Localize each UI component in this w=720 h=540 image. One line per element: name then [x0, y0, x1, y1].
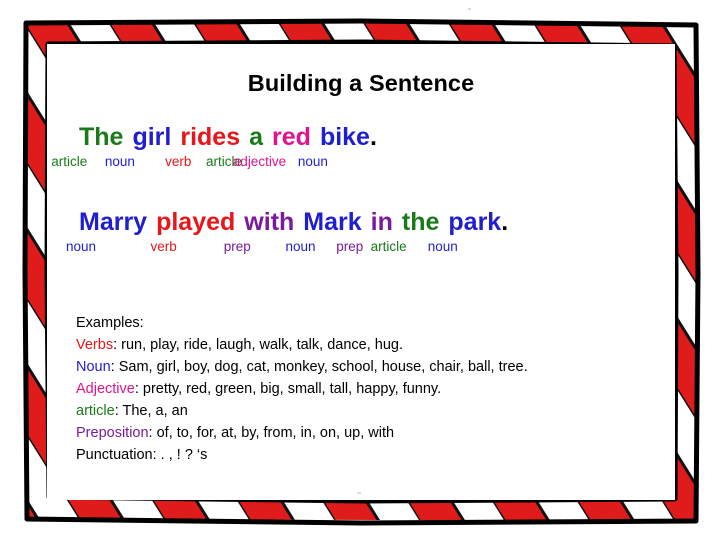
example-separator: : — [153, 447, 161, 463]
word-gap — [362, 208, 371, 236]
slide-content-card: Building a Sentence The girl rides a red… — [47, 44, 675, 500]
sentence-2-word-8: . — [501, 208, 508, 236]
example-category-label: article — [76, 403, 115, 419]
sentence-1-label-5: adjective — [233, 155, 286, 170]
sentence-1-label-6: noun — [298, 155, 328, 170]
sentence-2-word-3: with — [244, 208, 294, 236]
sentence-2-label-4: noun — [285, 240, 315, 255]
sentence-2-word-5: in — [371, 208, 393, 236]
word-gap — [235, 208, 244, 236]
sentence-1-word-3: rides — [180, 123, 240, 151]
example-items: . , ! ? ‘s — [161, 447, 208, 463]
sentence-2-word-6: the — [402, 208, 440, 236]
sentence-1-word-5: red — [272, 123, 311, 151]
sentence-example-2: Marry played with Mark in the park. noun… — [47, 209, 675, 257]
sentence-1-label-3: verb — [165, 155, 191, 170]
example-separator: : — [111, 359, 119, 375]
word-gap — [311, 123, 320, 151]
example-separator: : — [113, 337, 121, 353]
examples-list: Verbs: run, play, ride, laugh, walk, tal… — [76, 334, 666, 466]
example-items: of, to, for, at, by, from, in, on, up, w… — [157, 425, 394, 441]
sentence-1-word-4: a — [249, 123, 263, 151]
sentence-2-label-7: noun — [428, 240, 458, 255]
word-gap — [240, 123, 249, 151]
artifact-speck-bottom — [357, 492, 361, 494]
sentence-2-label-2: verb — [151, 240, 177, 255]
word-gap — [294, 208, 303, 236]
sentence-1-word-1: The — [79, 123, 123, 151]
example-items: pretty, red, green, big, small, tall, ha… — [143, 381, 441, 397]
sentence-1-word-6: bike — [320, 123, 370, 151]
word-gap — [171, 123, 180, 151]
example-line: Preposition: of, to, for, at, by, from, … — [76, 422, 666, 444]
sentence-2-label-5: prep — [336, 240, 363, 255]
sentence-1-label-2: noun — [105, 155, 135, 170]
sentence-1-word-7: . — [370, 123, 377, 151]
sentence-1-labels: articlenounverbarticleadjectivenoun — [47, 155, 675, 172]
example-items: Sam, girl, boy, dog, cat, monkey, school… — [119, 359, 528, 375]
word-gap — [263, 123, 272, 151]
examples-heading: Examples: — [76, 312, 666, 334]
sentence-2-word-2: played — [156, 208, 235, 236]
word-gap — [147, 208, 156, 236]
artifact-speck-top — [468, 8, 471, 10]
sentence-2-word-4: Mark — [303, 208, 361, 236]
sentence-2-label-6: article — [371, 240, 407, 255]
example-line: Noun: Sam, girl, boy, dog, cat, monkey, … — [76, 356, 666, 378]
example-category-label: Adjective — [76, 381, 135, 397]
sentence-2-words: Marry played with Mark in the park. — [47, 209, 675, 237]
sentence-1-words: The girl rides a red bike. — [47, 124, 675, 152]
example-category-label: Noun — [76, 359, 111, 375]
sentence-example-1: The girl rides a red bike. articlenounve… — [47, 124, 675, 172]
sentence-2-labels: nounverbprepnounpreparticlenoun — [47, 240, 675, 257]
example-line: article: The, a, an — [76, 400, 666, 422]
example-line: Verbs: run, play, ride, laugh, walk, tal… — [76, 334, 666, 356]
example-category-label: Preposition — [76, 425, 149, 441]
example-line: Adjective: pretty, red, green, big, smal… — [76, 378, 666, 400]
sentence-1-label-1: article — [51, 155, 87, 170]
example-category-label: Verbs — [76, 337, 113, 353]
page-title: Building a Sentence — [47, 70, 675, 97]
sentence-2-word-1: Marry — [79, 208, 147, 236]
example-category-label: Punctuation — [76, 447, 153, 463]
example-items: The, a, an — [122, 403, 187, 419]
sentence-2-label-3: prep — [224, 240, 251, 255]
example-separator: : — [135, 381, 143, 397]
example-line: Punctuation: . , ! ? ‘s — [76, 444, 666, 466]
example-items: run, play, ride, laugh, walk, talk, danc… — [121, 337, 403, 353]
sentence-1-word-2: girl — [132, 123, 171, 151]
example-separator: : — [149, 425, 157, 441]
sentence-2-word-7: park — [448, 208, 501, 236]
word-gap — [393, 208, 402, 236]
examples-section: Examples: Verbs: run, play, ride, laugh,… — [76, 312, 666, 466]
sentence-2-label-1: noun — [66, 240, 96, 255]
slide-canvas: Building a Sentence The girl rides a red… — [0, 0, 720, 540]
